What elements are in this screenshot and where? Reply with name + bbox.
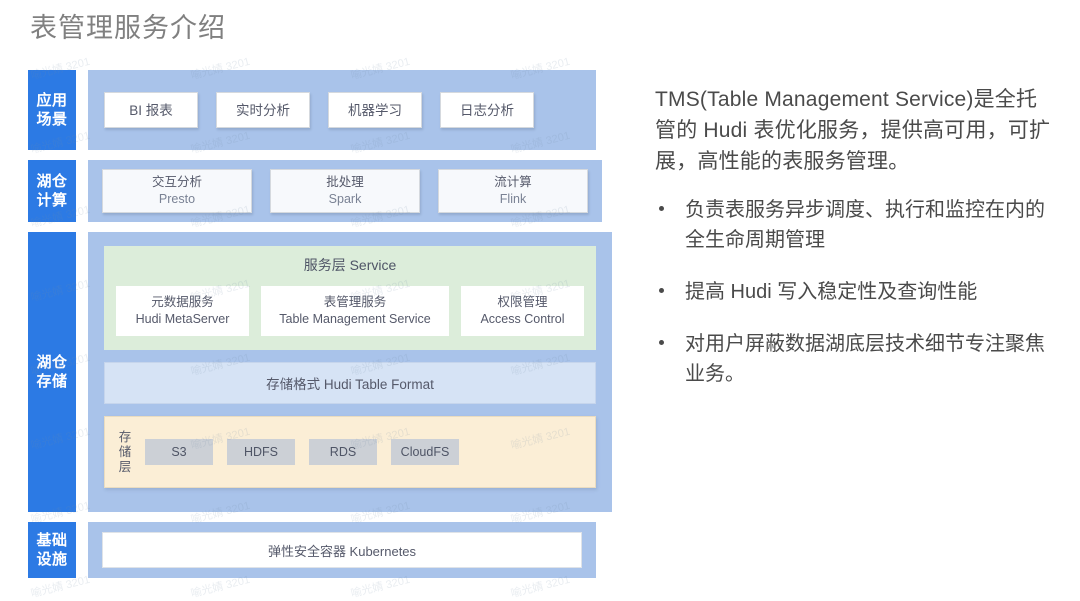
bullet-item-1: 负责表服务异步调度、执行和监控在内的全生命周期管理 [655, 195, 1055, 255]
compute-chip-presto[interactable]: 交互分析 Presto [102, 169, 252, 213]
service-layer-boxes: 元数据服务 Hudi MetaServer 表管理服务 Table Manage… [116, 286, 584, 336]
storage-box-s3[interactable]: S3 [145, 439, 213, 465]
storage-backend-boxes: S3 HDFS RDS CloudFS [145, 439, 459, 465]
app-chip-label: 实时分析 [236, 102, 290, 119]
app-chip-machine-learning[interactable]: 机器学习 [328, 92, 422, 128]
service-box-en: Table Management Service [279, 311, 430, 328]
service-box-table-management-service[interactable]: 表管理服务 Table Management Service [261, 286, 449, 336]
bullet-dot-icon [659, 340, 664, 345]
row-label-line1: 基础 [36, 531, 67, 550]
row-body-storage: 服务层 Service 元数据服务 Hudi MetaServer 表管理服务 … [88, 232, 612, 512]
service-box-en: Access Control [480, 311, 564, 328]
diagram-row-storage: 湖仓 存储 服务层 Service 元数据服务 Hudi MetaServer … [28, 232, 596, 512]
app-chip-label: 机器学习 [348, 102, 402, 119]
storage-box-label: S3 [171, 445, 186, 459]
bullet-text: 提高 Hudi 写入稳定性及查询性能 [685, 281, 977, 303]
service-box-metaserver[interactable]: 元数据服务 Hudi MetaServer [116, 286, 249, 336]
infrastructure-kubernetes-bar[interactable]: 弹性安全容器 Kubernetes [102, 532, 582, 568]
app-chip-log-analysis[interactable]: 日志分析 [440, 92, 534, 128]
page-title: 表管理服务介绍 [30, 8, 226, 48]
storage-vlabel-char1: 存 [119, 430, 132, 445]
row-label-infrastructure: 基础 设施 [28, 522, 76, 578]
storage-box-label: RDS [330, 445, 356, 459]
row-label-line2: 场景 [36, 110, 67, 129]
row-label-line1: 湖仓 [36, 353, 67, 372]
row-label-line2: 设施 [36, 550, 67, 569]
compute-chip-cn: 批处理 [326, 174, 364, 191]
row-label-line1: 湖仓 [36, 172, 67, 191]
storage-vlabel-char3: 层 [119, 460, 132, 475]
compute-chip-cn: 交互分析 [152, 174, 202, 191]
compute-chip-spark[interactable]: 批处理 Spark [270, 169, 420, 213]
storage-layer-vertical-label: 存 储 层 [117, 430, 133, 475]
service-box-en: Hudi MetaServer [136, 311, 230, 328]
storage-box-cloudfs[interactable]: CloudFS [391, 439, 459, 465]
compute-chip-en: Presto [159, 191, 195, 208]
row-label-storage: 湖仓 存储 [28, 232, 76, 512]
row-body-application: BI 报表 实时分析 机器学习 日志分析 [88, 70, 596, 150]
bullet-text: 负责表服务异步调度、执行和监控在内的全生命周期管理 [685, 199, 1045, 251]
storage-box-rds[interactable]: RDS [309, 439, 377, 465]
table-format-label: 存储格式 Hudi Table Format [266, 373, 434, 393]
description-lead-paragraph: TMS(Table Management Service)是全托管的 Hudi … [655, 84, 1055, 177]
compute-chip-flink[interactable]: 流计算 Flink [438, 169, 588, 213]
service-layer-panel: 服务层 Service 元数据服务 Hudi MetaServer 表管理服务 … [104, 246, 596, 350]
row-label-line2: 存储 [36, 372, 67, 391]
service-box-cn: 元数据服务 [151, 294, 214, 311]
app-chip-realtime-analysis[interactable]: 实时分析 [216, 92, 310, 128]
description-bullet-list: 负责表服务异步调度、执行和监控在内的全生命周期管理 提高 Hudi 写入稳定性及… [655, 195, 1055, 389]
row-label-line1: 应用 [36, 91, 67, 110]
diagram-row-application: 应用 场景 BI 报表 实时分析 机器学习 日志分析 [28, 70, 596, 150]
row-body-infrastructure: 弹性安全容器 Kubernetes [88, 522, 596, 578]
row-label-application: 应用 场景 [28, 70, 76, 150]
service-layer-title: 服务层 Service [116, 256, 584, 274]
compute-chip-en: Spark [329, 191, 362, 208]
bullet-item-3: 对用户屏蔽数据湖底层技术细节专注聚焦业务。 [655, 329, 1055, 389]
table-format-bar[interactable]: 存储格式 Hudi Table Format [104, 362, 596, 404]
app-chip-label: BI 报表 [129, 102, 173, 119]
storage-box-label: HDFS [244, 445, 278, 459]
storage-box-hdfs[interactable]: HDFS [227, 439, 295, 465]
storage-vlabel-char2: 储 [119, 445, 132, 460]
service-box-cn: 表管理服务 [324, 294, 387, 311]
compute-chip-cn: 流计算 [494, 174, 532, 191]
diagram-row-compute: 湖仓 计算 交互分析 Presto 批处理 Spark 流计算 Flink [28, 160, 596, 222]
bullet-dot-icon [659, 288, 664, 293]
bullet-text: 对用户屏蔽数据湖底层技术细节专注聚焦业务。 [685, 333, 1045, 385]
service-box-cn: 权限管理 [497, 294, 547, 311]
row-label-line2: 计算 [36, 191, 67, 210]
app-chip-label: 日志分析 [460, 102, 514, 119]
storage-layer-panel: 存 储 层 S3 HDFS RDS CloudFS [104, 416, 596, 488]
service-box-access-control[interactable]: 权限管理 Access Control [461, 286, 584, 336]
bullet-dot-icon [659, 206, 664, 211]
row-body-compute: 交互分析 Presto 批处理 Spark 流计算 Flink [88, 160, 602, 222]
description-column: TMS(Table Management Service)是全托管的 Hudi … [655, 84, 1055, 411]
diagram-row-infrastructure: 基础 设施 弹性安全容器 Kubernetes [28, 522, 596, 578]
architecture-diagram: 应用 场景 BI 报表 实时分析 机器学习 日志分析 湖仓 计算 交互分析 [28, 70, 596, 578]
infrastructure-label: 弹性安全容器 Kubernetes [268, 541, 416, 560]
compute-chip-en: Flink [500, 191, 526, 208]
storage-box-label: CloudFS [401, 445, 450, 459]
app-chip-bi-report[interactable]: BI 报表 [104, 92, 198, 128]
row-label-compute: 湖仓 计算 [28, 160, 76, 222]
bullet-item-2: 提高 Hudi 写入稳定性及查询性能 [655, 277, 1055, 307]
